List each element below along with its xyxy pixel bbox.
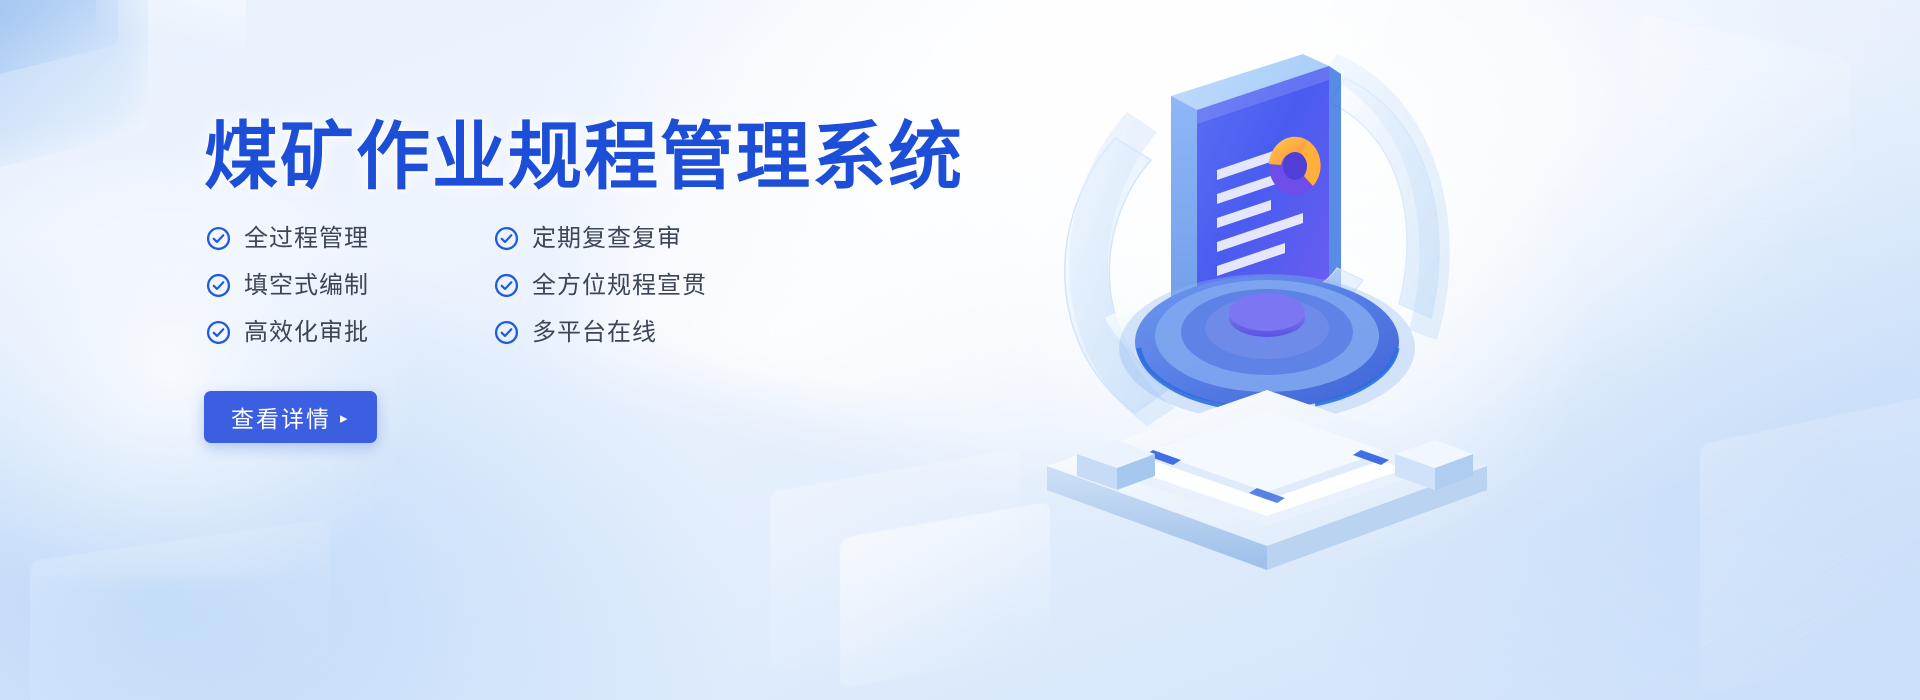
page-title: 煤矿作业规程管理系统 (204, 118, 1024, 196)
view-details-button[interactable]: 查看详情 ▸ (204, 391, 377, 443)
hero-banner: 煤矿作业规程管理系统 全过程管理 定期复查复审 (0, 0, 1920, 700)
check-circle-icon (494, 273, 519, 298)
decorative-block-5 (30, 519, 330, 700)
feature-item-3: 填空式编制 (206, 273, 494, 298)
feature-item-4: 全方位规程宣贯 (494, 273, 782, 298)
check-circle-icon (206, 226, 231, 251)
view-details-label: 查看详情 (231, 400, 331, 434)
feature-item-5: 高效化审批 (206, 320, 494, 345)
feature-label: 高效化审批 (244, 321, 369, 345)
decorative-block-3 (1640, 14, 1850, 269)
decorative-block-4 (1700, 396, 1920, 695)
check-circle-icon (494, 226, 519, 251)
hero-illustration (985, 18, 1605, 578)
check-circle-icon (494, 320, 519, 345)
feature-item-2: 定期复查复审 (494, 226, 782, 251)
feature-label: 全方位规程宣贯 (532, 274, 707, 298)
feature-list: 全过程管理 定期复查复审 填空式编制 (206, 226, 1024, 345)
feature-label: 定期复查复审 (532, 227, 682, 251)
hero-content: 煤矿作业规程管理系统 全过程管理 定期复查复审 (204, 118, 1024, 443)
decorative-block-1 (770, 448, 1020, 672)
chevron-right-icon: ▸ (340, 411, 350, 426)
check-circle-icon (206, 320, 231, 345)
feature-item-1: 全过程管理 (206, 226, 494, 251)
feature-label: 全过程管理 (244, 227, 369, 251)
decorative-cube-small (0, 0, 118, 75)
donut-chart (1269, 137, 1321, 195)
decorative-cube-face (96, 0, 246, 72)
feature-label: 多平台在线 (532, 321, 657, 345)
feature-label: 填空式编制 (244, 274, 369, 298)
decorative-cube-large (0, 0, 148, 178)
feature-item-6: 多平台在线 (494, 320, 782, 345)
check-circle-icon (206, 273, 231, 298)
